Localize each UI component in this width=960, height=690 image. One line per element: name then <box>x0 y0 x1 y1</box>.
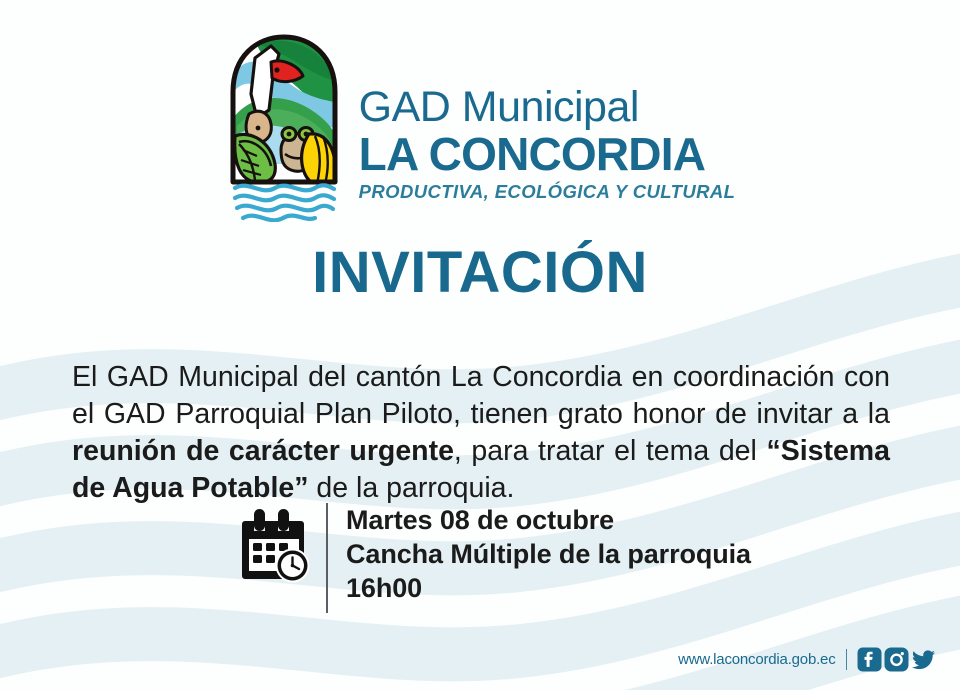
event-place: Cancha Múltiple de la parroquia <box>346 537 751 571</box>
event-time: 16h00 <box>346 571 751 605</box>
body-run: El GAD Municipal del cantón La Concordia… <box>72 361 890 430</box>
calendar-clock-icon <box>240 509 314 585</box>
la-concordia-emblem-icon <box>225 32 343 222</box>
event-text-lines: Martes 08 de octubre Cancha Múltiple de … <box>346 503 751 605</box>
page-title: INVITACIÓN <box>0 243 960 303</box>
twitter-icon[interactable] <box>911 647 936 672</box>
website-url[interactable]: www.laconcordia.gob.ec <box>678 651 835 668</box>
logo-tagline: PRODUCTIVA, ECOLÓGICA Y CULTURAL <box>359 181 736 203</box>
invitation-body-text: El GAD Municipal del cantón La Concordia… <box>72 359 890 507</box>
logo-block: GAD Municipal LA CONCORDIA PRODUCTIVA, E… <box>0 32 960 222</box>
body-run: de la parroquia. <box>308 472 514 504</box>
body-run: , para tratar el tema del <box>454 435 767 467</box>
footer-separator <box>846 649 848 670</box>
event-date: Martes 08 de octubre <box>346 503 751 537</box>
invitation-poster: GAD Municipal LA CONCORDIA PRODUCTIVA, E… <box>0 0 960 690</box>
facebook-icon[interactable] <box>857 647 882 672</box>
event-details-block: Martes 08 de octubre Cancha Múltiple de … <box>240 503 751 613</box>
event-divider <box>326 503 328 613</box>
logo-wordmark: GAD Municipal LA CONCORDIA PRODUCTIVA, E… <box>359 84 736 203</box>
logo-line-la-concordia: LA CONCORDIA <box>359 130 705 178</box>
logo-line-gad-municipal: GAD Municipal <box>359 84 639 130</box>
instagram-icon[interactable] <box>884 647 909 672</box>
body-emphasis: reunión de carácter urgente <box>72 435 454 467</box>
footer: www.laconcordia.gob.ec <box>678 647 938 672</box>
